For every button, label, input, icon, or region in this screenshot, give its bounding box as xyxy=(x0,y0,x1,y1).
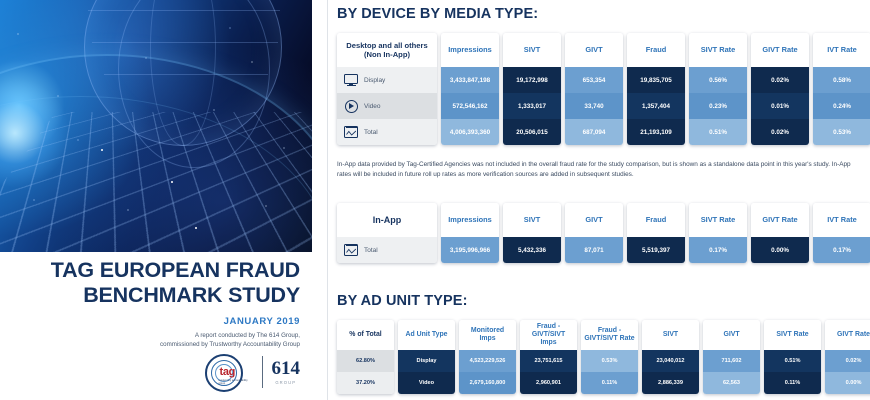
table-cell: 5,432,336 xyxy=(503,237,561,263)
row-label-text: Display xyxy=(364,77,385,84)
column-sivt-rate: SIVT Rate0.17% xyxy=(689,203,747,263)
video-icon xyxy=(344,100,358,112)
six14-logo: 614 GROUP xyxy=(272,359,301,385)
column-header: GIVT Rate xyxy=(751,203,809,237)
table-cell: 653,354 xyxy=(565,67,623,93)
table-cell: 0.51% xyxy=(764,350,821,372)
logo-divider xyxy=(262,356,263,388)
table-cell: 3,433,847,198 xyxy=(441,67,499,93)
report-credit-line-1: A report conducted by The 614 Group, xyxy=(0,331,300,340)
table-cell: 0.02% xyxy=(825,350,870,372)
column-header: GIVT Rate xyxy=(751,33,809,67)
table-cell: 0.56% xyxy=(689,67,747,93)
table-cell: 2,960,901 xyxy=(520,372,577,394)
cover-panel: TAG EUROPEAN FRAUD BENCHMARK STUDY JANUA… xyxy=(0,0,330,400)
section-heading-ad-unit: BY AD UNIT TYPE: xyxy=(337,293,468,309)
table-cell: 0.23% xyxy=(689,93,747,119)
page-title-line-2: BENCHMARK STUDY xyxy=(0,283,300,308)
row-label-video: Video xyxy=(337,93,437,119)
row-label-text: Total xyxy=(364,129,378,136)
six14-logo-subtext: GROUP xyxy=(275,380,296,385)
tag-logo-wordmark: tag xyxy=(220,366,236,378)
row-header-block: In-AppTotal xyxy=(337,203,437,263)
table-cell: Video xyxy=(398,372,455,394)
column-header: Fraud - GIVT/SIVT Imps xyxy=(520,320,577,350)
column-ad-unit-type: Ad Unit TypeDisplayVideo xyxy=(398,320,455,394)
hero-node-dots xyxy=(0,0,312,252)
row-label-total: Total xyxy=(337,119,437,145)
report-page: TAG EUROPEAN FRAUD BENCHMARK STUDY JANUA… xyxy=(0,0,870,400)
column-header: Fraud xyxy=(627,203,685,237)
column-sivt: SIVT19,172,9981,333,01720,506,015 xyxy=(503,33,561,145)
column-header: Ad Unit Type xyxy=(398,320,455,350)
row-label-text: Video xyxy=(364,103,381,110)
table-cell: 572,546,162 xyxy=(441,93,499,119)
table-cell: 3,195,996,966 xyxy=(441,237,499,263)
table-cell: 2,886,339 xyxy=(642,372,699,394)
column-fraud-givt-sivt-rate: Fraud - GIVT/SIVT Rate0.53%0.11% xyxy=(581,320,638,394)
table-by-device-by-media-type: Desktop and all others (Non In-App)Displ… xyxy=(337,33,870,145)
table-cell: 0.11% xyxy=(764,372,821,394)
table-cell: 0.17% xyxy=(689,237,747,263)
column-ivt-rate: IVT Rate0.58%0.24%0.53% xyxy=(813,33,870,145)
column-ivt-rate: IVT Rate0.17% xyxy=(813,203,870,263)
section-heading-device-media: BY DEVICE BY MEDIA TYPE: xyxy=(337,6,538,22)
report-date: JANUARY 2019 xyxy=(0,316,300,327)
column-header: GIVT Rate xyxy=(825,320,870,350)
column-sivt-rate: SIVT Rate0.56%0.23%0.51% xyxy=(689,33,747,145)
table-cell: 33,740 xyxy=(565,93,623,119)
table-cell: 21,193,109 xyxy=(627,119,685,145)
column-givt-rate: GIVT Rate0.00% xyxy=(751,203,809,263)
row-header-title: Desktop and all others (Non In-App) xyxy=(337,33,437,67)
column-header: GIVT xyxy=(703,320,760,350)
column-sivt: SIVT5,432,336 xyxy=(503,203,561,263)
column-sivt: SIVT23,040,0122,886,339 xyxy=(642,320,699,394)
table-in-app: In-AppTotalImpressions3,195,996,966SIVT5… xyxy=(337,203,870,263)
table-cell: 0.58% xyxy=(813,67,870,93)
table-cell: 0.24% xyxy=(813,93,870,119)
table-cell: 0.11% xyxy=(581,372,638,394)
column-header: SIVT xyxy=(503,203,561,237)
table-cell: 0.00% xyxy=(751,237,809,263)
table-cell: 1,333,017 xyxy=(503,93,561,119)
column-header: GIVT xyxy=(565,33,623,67)
row-header-title: In-App xyxy=(337,203,437,237)
column-header: SIVT xyxy=(642,320,699,350)
table-cell: 19,835,705 xyxy=(627,67,685,93)
column-fraud-givt-sivt-imps: Fraud - GIVT/SIVT Imps23,751,6152,960,90… xyxy=(520,320,577,394)
six14-logo-number: 614 xyxy=(272,359,301,378)
column-header: SIVT xyxy=(503,33,561,67)
row-label-total: Total xyxy=(337,237,437,263)
tag-logo-subtext: trustworthy accountability group xyxy=(219,379,253,385)
table-cell: 4,006,393,360 xyxy=(441,119,499,145)
column-header: IVT Rate xyxy=(813,203,870,237)
table-cell: 87,071 xyxy=(565,237,623,263)
column-header: GIVT xyxy=(565,203,623,237)
column-impressions: Impressions3,433,847,198572,546,1624,006… xyxy=(441,33,499,145)
total-icon xyxy=(344,244,358,256)
row-header-block: Desktop and all others (Non In-App)Displ… xyxy=(337,33,437,145)
table-cell: 23,040,012 xyxy=(642,350,699,372)
column-givt: GIVT711,60262,563 xyxy=(703,320,760,394)
column-sivt-rate: SIVT Rate0.51%0.11% xyxy=(764,320,821,394)
column-header: Monitored Imps xyxy=(459,320,516,350)
table-cell: 62.80% xyxy=(337,350,394,372)
table-cell: 0.17% xyxy=(813,237,870,263)
column-header: IVT Rate xyxy=(813,33,870,67)
column-header: Impressions xyxy=(441,33,499,67)
table-cell: 62,563 xyxy=(703,372,760,394)
table-cell: 0.01% xyxy=(751,93,809,119)
display-icon xyxy=(344,74,358,86)
total-icon xyxy=(344,126,358,138)
table-cell: 0.51% xyxy=(689,119,747,145)
table-cell: 37.20% xyxy=(337,372,394,394)
table-cell: 4,523,229,526 xyxy=(459,350,516,372)
column-monitored-imps: Monitored Imps4,523,229,5262,679,160,800 xyxy=(459,320,516,394)
column-header: Impressions xyxy=(441,203,499,237)
column-impressions: Impressions3,195,996,966 xyxy=(441,203,499,263)
report-credit-line-2: commissioned by Trustworthy Accountabili… xyxy=(0,340,300,349)
column-givt: GIVT653,35433,740687,094 xyxy=(565,33,623,145)
table-cell: 19,172,998 xyxy=(503,67,561,93)
table-cell: 687,094 xyxy=(565,119,623,145)
column-givt: GIVT87,071 xyxy=(565,203,623,263)
panel-divider xyxy=(327,0,328,400)
table-cell: 0.02% xyxy=(751,119,809,145)
table-cell: 1,357,404 xyxy=(627,93,685,119)
column-of-total: % of Total62.80%37.20% xyxy=(337,320,394,394)
column-header: SIVT Rate xyxy=(764,320,821,350)
table-cell: 2,679,160,800 xyxy=(459,372,516,394)
table-by-ad-unit-type: % of Total62.80%37.20%Ad Unit TypeDispla… xyxy=(337,320,870,394)
column-header: Fraud xyxy=(627,33,685,67)
in-app-note: In-App data provided by Tag-Certified Ag… xyxy=(337,160,858,181)
column-header: SIVT Rate xyxy=(689,203,747,237)
row-label-text: Total xyxy=(364,247,378,254)
column-header: % of Total xyxy=(337,320,394,350)
hero-network-image xyxy=(0,0,312,252)
table-cell: 20,506,015 xyxy=(503,119,561,145)
table-cell: 0.53% xyxy=(581,350,638,372)
table-cell: 23,751,615 xyxy=(520,350,577,372)
report-credit: A report conducted by The 614 Group, com… xyxy=(0,331,300,350)
table-cell: 0.00% xyxy=(825,372,870,394)
content-panel: BY DEVICE BY MEDIA TYPE: Desktop and all… xyxy=(335,0,870,400)
table-cell: 0.02% xyxy=(751,67,809,93)
table-cell: 0.53% xyxy=(813,119,870,145)
page-title: TAG EUROPEAN FRAUD BENCHMARK STUDY xyxy=(0,258,300,307)
column-givt-rate: GIVT Rate0.02%0.01%0.02% xyxy=(751,33,809,145)
column-fraud: Fraud5,519,397 xyxy=(627,203,685,263)
table-cell: 5,519,397 xyxy=(627,237,685,263)
cover-title-block: TAG EUROPEAN FRAUD BENCHMARK STUDY JANUA… xyxy=(0,258,312,350)
row-label-display: Display xyxy=(337,67,437,93)
table-cell: 711,602 xyxy=(703,350,760,372)
logo-row: tag trustworthy accountability group 614… xyxy=(0,352,312,392)
column-givt-rate: GIVT Rate0.02%0.00% xyxy=(825,320,870,394)
column-header: SIVT Rate xyxy=(689,33,747,67)
table-cell: Display xyxy=(398,350,455,372)
column-fraud: Fraud19,835,7051,357,40421,193,109 xyxy=(627,33,685,145)
column-header: Fraud - GIVT/SIVT Rate xyxy=(581,320,638,350)
page-title-line-1: TAG EUROPEAN FRAUD xyxy=(0,258,300,283)
tag-logo: tag trustworthy accountability group xyxy=(205,352,253,392)
